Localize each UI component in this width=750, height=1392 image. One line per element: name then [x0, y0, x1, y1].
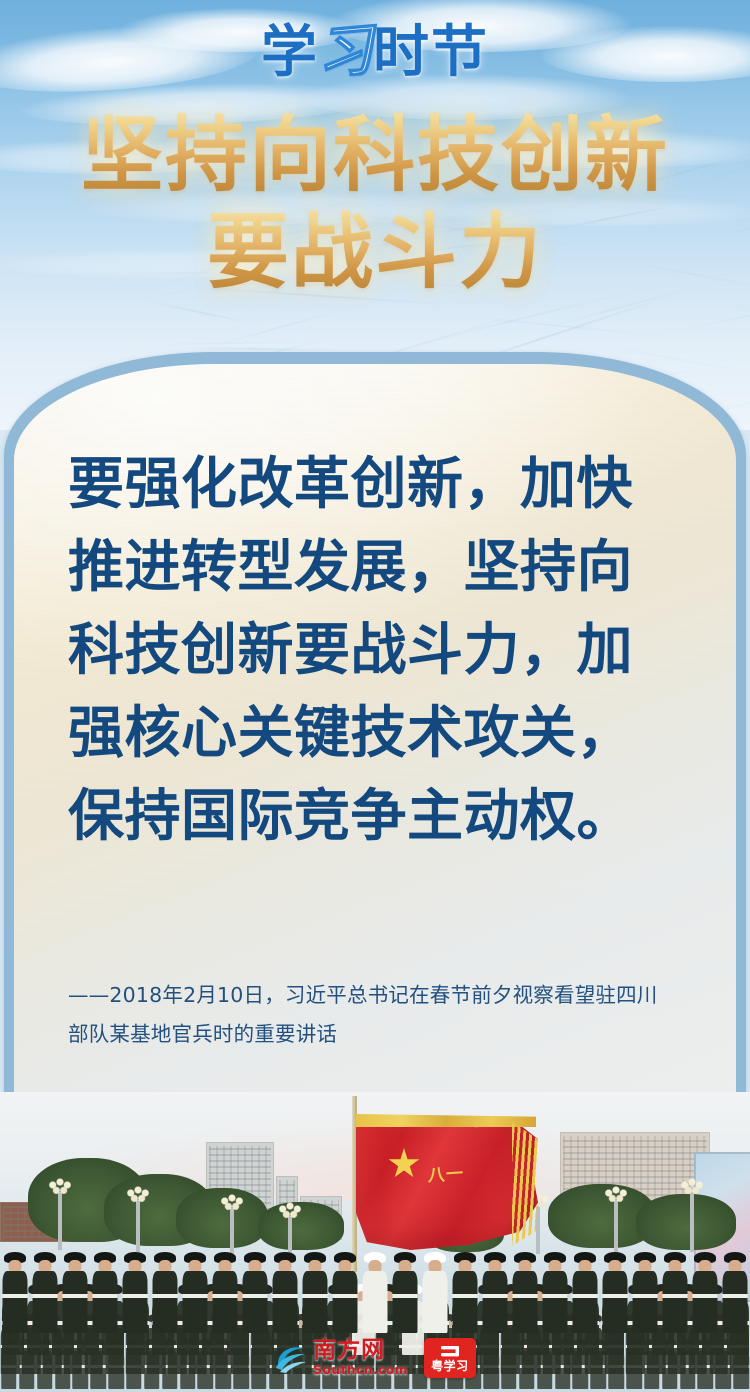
- yuexuexi-logo[interactable]: 粤学习: [424, 1338, 476, 1378]
- brand-char-2-cursive: 习: [315, 22, 378, 83]
- soldier: [120, 1252, 150, 1338]
- soldier-row: [0, 1252, 750, 1338]
- soldier-body: [153, 1271, 178, 1333]
- soldier: [450, 1252, 480, 1338]
- soldier-body: [63, 1271, 88, 1333]
- yue-mark-icon: [439, 1345, 461, 1359]
- soldier-belt: [663, 1294, 688, 1298]
- attribution-line: ——2018年2月10日，习近平总书记在春节前夕视察看望驻四川: [68, 976, 708, 1015]
- southcn-cn-label: 南方网: [313, 1339, 408, 1362]
- soldier: [540, 1252, 570, 1338]
- soldier-body: [33, 1271, 58, 1333]
- soldier-belt: [243, 1294, 268, 1298]
- soldier: [180, 1252, 210, 1338]
- soldier-body: [273, 1271, 298, 1333]
- title-line-2: 要战斗力: [0, 205, 750, 302]
- flag-fringe: [356, 1114, 536, 1127]
- quote-text: 要强化改革创新，加快 推进转型发展，坚持向 科技创新要战斗力，加 强核心关键技术…: [68, 444, 688, 858]
- soldier-body: [213, 1271, 238, 1333]
- brand-header: 学习时节: [0, 24, 750, 81]
- soldier-body: [453, 1271, 478, 1333]
- yuexuexi-label: 粤学习: [431, 1360, 469, 1372]
- quote-panel: 要强化改革创新，加快 推进转型发展，坚持向 科技创新要战斗力，加 强核心关键技术…: [0, 352, 750, 1152]
- soldier-belt: [273, 1294, 298, 1298]
- soldier-belt: [723, 1294, 748, 1298]
- soldier-belt: [153, 1294, 178, 1298]
- quote-line: 保持国际竞争主动权。: [68, 776, 688, 859]
- street-lamp: [690, 1192, 694, 1252]
- soldier-body: [93, 1271, 118, 1333]
- soldier-body: [633, 1271, 658, 1333]
- soldier: [240, 1252, 270, 1338]
- soldier-body: [123, 1271, 148, 1333]
- brand-char-1: 学: [261, 20, 319, 85]
- quote-line: 推进转型发展，坚持向: [68, 527, 688, 610]
- soldier: [690, 1252, 720, 1338]
- soldier-body: [183, 1271, 208, 1333]
- soldier: [300, 1252, 330, 1338]
- soldier: [630, 1252, 660, 1338]
- street-lamp: [614, 1200, 618, 1254]
- soldier: [390, 1252, 420, 1338]
- soldier-body: [243, 1271, 268, 1333]
- soldier-belt: [513, 1294, 538, 1298]
- poster-title: 坚持向科技创新 要战斗力: [0, 108, 750, 302]
- street-lamp: [136, 1200, 140, 1252]
- soldier-belt: [213, 1294, 238, 1298]
- soldier-belt: [573, 1294, 598, 1298]
- soldier-belt: [63, 1294, 88, 1298]
- soldier-belt: [123, 1294, 148, 1298]
- soldier-body: [333, 1271, 358, 1333]
- soldier-belt: [333, 1294, 358, 1298]
- soldier-body: [363, 1271, 388, 1333]
- panel-surface: 要强化改革创新，加快 推进转型发展，坚持向 科技创新要战斗力，加 强核心关键技术…: [14, 364, 736, 1152]
- soldier-belt: [93, 1294, 118, 1298]
- soldier: [360, 1252, 390, 1338]
- quote-line: 科技创新要战斗力，加: [68, 610, 688, 693]
- soldier-belt: [363, 1294, 388, 1298]
- soldier: [570, 1252, 600, 1338]
- tree: [636, 1194, 736, 1250]
- southcn-en-label: Southcn.com: [313, 1364, 408, 1377]
- footer-logos: 南方网 Southcn.com 粤学习: [0, 1338, 750, 1378]
- soldier: [510, 1252, 540, 1338]
- soldier: [480, 1252, 510, 1338]
- soldier-body: [423, 1271, 448, 1333]
- soldier-belt: [483, 1294, 508, 1298]
- pla-flag: 八一: [352, 1104, 552, 1264]
- flag-label: 八一: [428, 1159, 464, 1187]
- soldier-belt: [183, 1294, 208, 1298]
- soldier: [150, 1252, 180, 1338]
- quote-line: 要强化改革创新，加快: [68, 444, 688, 527]
- southcn-text: 南方网 Southcn.com: [313, 1339, 408, 1377]
- soldier-body: [513, 1271, 538, 1333]
- brand-title: 学习时节: [261, 24, 489, 81]
- soldier-body: [603, 1271, 628, 1333]
- soldier-belt: [303, 1294, 328, 1298]
- soldier-body: [483, 1271, 508, 1333]
- soldier-body: [3, 1271, 28, 1333]
- quote-attribution: ——2018年2月10日，习近平总书记在春节前夕视察看望驻四川 部队某基地官兵时…: [68, 976, 708, 1054]
- poster-root: 学习时节 坚持向科技创新 要战斗力 要强化改革创新，加快 推进转型发展，坚持向 …: [0, 0, 750, 1392]
- soldier-body: [303, 1271, 328, 1333]
- street-lamp: [230, 1208, 234, 1254]
- soldier: [660, 1252, 690, 1338]
- soldier-belt: [543, 1294, 568, 1298]
- flag-fringe: [512, 1122, 538, 1246]
- soldier-belt: [603, 1294, 628, 1298]
- soldier-belt: [393, 1294, 418, 1298]
- soldier-body: [573, 1271, 598, 1333]
- soldier-belt: [693, 1294, 718, 1298]
- soldier: [600, 1252, 630, 1338]
- title-line-1: 坚持向科技创新: [0, 108, 750, 205]
- soldier-belt: [453, 1294, 478, 1298]
- soldier: [330, 1252, 360, 1338]
- soldier-belt: [423, 1294, 448, 1298]
- soldier-belt: [633, 1294, 658, 1298]
- quote-line: 强核心关键技术攻关，: [68, 693, 688, 776]
- soldier: [420, 1252, 450, 1338]
- swoosh-icon: [274, 1342, 308, 1374]
- soldier: [720, 1252, 750, 1338]
- soldier: [210, 1252, 240, 1338]
- soldier: [30, 1252, 60, 1338]
- southcn-logo[interactable]: 南方网 Southcn.com: [274, 1339, 408, 1377]
- soldier-body: [723, 1271, 748, 1333]
- soldier-body: [693, 1271, 718, 1333]
- attribution-line: 部队某基地官兵时的重要讲话: [68, 1015, 708, 1054]
- soldier-body: [543, 1271, 568, 1333]
- soldier: [0, 1252, 30, 1338]
- brand-char-3: 时: [373, 20, 431, 85]
- soldier-body: [393, 1271, 418, 1333]
- soldier-body: [663, 1271, 688, 1333]
- soldier-belt: [33, 1294, 58, 1298]
- street-lamp: [58, 1192, 62, 1250]
- soldier: [270, 1252, 300, 1338]
- soldier: [90, 1252, 120, 1338]
- soldier: [60, 1252, 90, 1338]
- soldier-belt: [3, 1294, 28, 1298]
- brand-char-4: 节: [431, 20, 489, 85]
- street-lamp: [288, 1216, 292, 1256]
